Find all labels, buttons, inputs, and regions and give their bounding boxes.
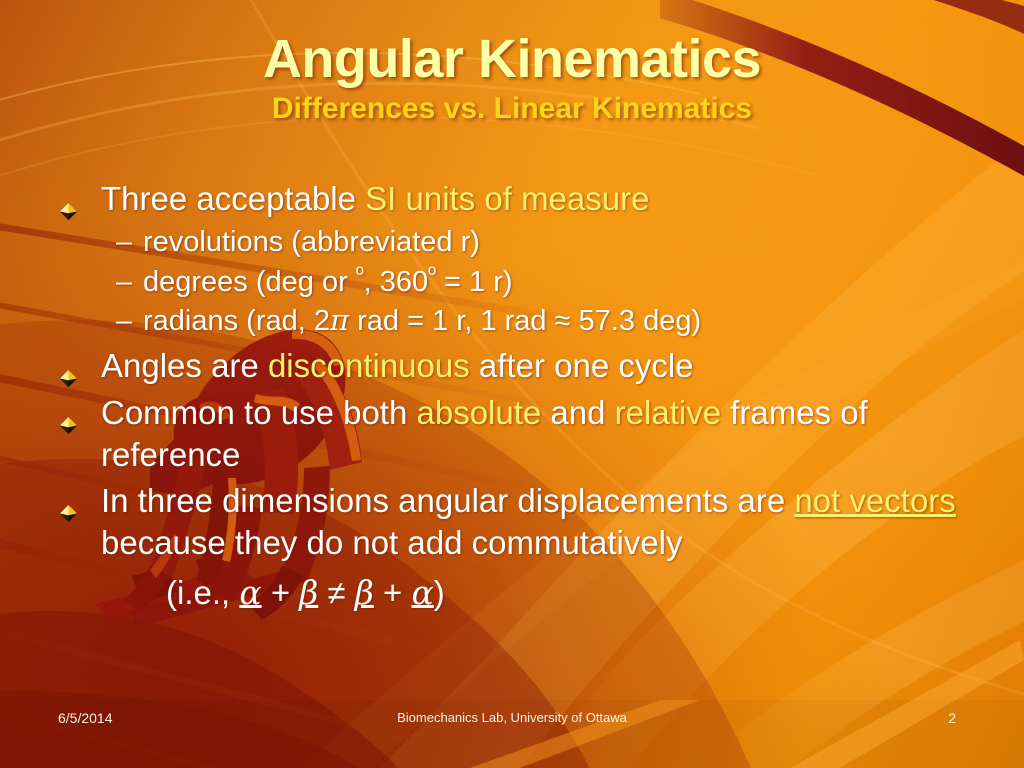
dash-marker: –: [116, 303, 143, 341]
bullet-not-vectors: In three dimensions angular displacement…: [54, 480, 994, 564]
bullet-discontinuous-highlight: discontinuous: [268, 347, 470, 384]
footer-page-number: 2: [948, 710, 956, 726]
dark-red-mass-3: [0, 611, 414, 768]
streak-bottom-2: [790, 640, 1024, 768]
equation-plus-1: +: [262, 574, 300, 611]
bullet-frames-highlight-relative: relative: [615, 394, 721, 431]
bullet-units: Three acceptable SI units of measure: [54, 178, 994, 220]
sub-bullet-degrees-a: degrees (deg or: [143, 266, 356, 298]
alpha-symbol-1: α: [239, 573, 261, 612]
equation-not-equal: ≠: [318, 574, 354, 611]
sub-bullets-units: –revolutions (abbreviated r) –degrees (d…: [54, 224, 994, 340]
dash-marker: –: [116, 224, 143, 262]
bullet-frames: Common to use both absolute and relative…: [54, 392, 994, 476]
maroon-band-top-2: [900, 0, 1024, 34]
sub-bullet-revolutions: –revolutions (abbreviated r): [54, 224, 994, 262]
bullet-units-highlight: SI units of measure: [365, 180, 649, 217]
bullet-frames-mid: and: [541, 394, 614, 431]
slide-footer: 6/5/2014 Biomechanics Lab, University of…: [0, 710, 1024, 730]
pi-symbol: π: [330, 303, 349, 337]
slide-body: Three acceptable SI units of measure –re…: [54, 178, 994, 615]
equation-plus-2: +: [374, 574, 412, 611]
gem-bullet-icon: [59, 356, 78, 375]
dash-marker: –: [116, 264, 143, 302]
sub-bullet-degrees-c: = 1 r): [436, 266, 513, 298]
equation-close: ): [434, 574, 445, 611]
equation-line: (i.e., α + β ≠ β + α): [54, 572, 994, 614]
sub-bullet-degrees: –degrees (deg or º, 360º = 1 r): [54, 262, 994, 302]
beta-symbol-1: β: [299, 573, 318, 612]
equation-open: (i.e.,: [166, 574, 239, 611]
bullet-not-vectors-pre: In three dimensions angular displacement…: [101, 482, 794, 519]
alpha-symbol-2: α: [411, 573, 433, 612]
bullet-discontinuous: Angles are discontinuous after one cycle: [54, 345, 994, 387]
bullet-frames-highlight-absolute: absolute: [417, 394, 542, 431]
gem-bullet-icon: [59, 491, 78, 510]
bullet-discontinuous-pre: Angles are: [101, 347, 268, 384]
beta-symbol-2: β: [355, 573, 374, 612]
footer-center-text: Biomechanics Lab, University of Ottawa: [0, 710, 1024, 725]
slide-title: Angular Kinematics: [0, 32, 1024, 87]
slide-subtitle: Differences vs. Linear Kinematics: [0, 93, 1024, 125]
bullet-not-vectors-post: because they do not add commutatively: [101, 524, 683, 561]
sub-bullet-radians-a: radians (rad, 2: [143, 305, 330, 337]
sub-bullet-radians: –radians (rad, 2π rad = 1 r, 1 rad ≈ 57.…: [54, 302, 994, 341]
degree-symbol: º: [356, 263, 364, 287]
sub-bullet-radians-b: rad = 1 r, 1 rad ≈ 57.3 deg): [349, 305, 701, 337]
gem-bullet-icon: [59, 189, 78, 208]
bullet-not-vectors-highlight: not vectors: [794, 482, 955, 519]
degree-symbol: º: [428, 263, 436, 287]
sub-bullet-degrees-b: , 360: [364, 266, 429, 298]
presentation-slide: Angular Kinematics Differences vs. Linea…: [0, 0, 1024, 768]
bullet-units-pre: Three acceptable: [101, 180, 365, 217]
sub-bullet-revolutions-text: revolutions (abbreviated r): [143, 226, 480, 258]
gem-bullet-icon: [59, 403, 78, 422]
bullet-frames-pre: Common to use both: [101, 394, 417, 431]
bullet-discontinuous-post: after one cycle: [470, 347, 694, 384]
title-block: Angular Kinematics Differences vs. Linea…: [0, 32, 1024, 125]
